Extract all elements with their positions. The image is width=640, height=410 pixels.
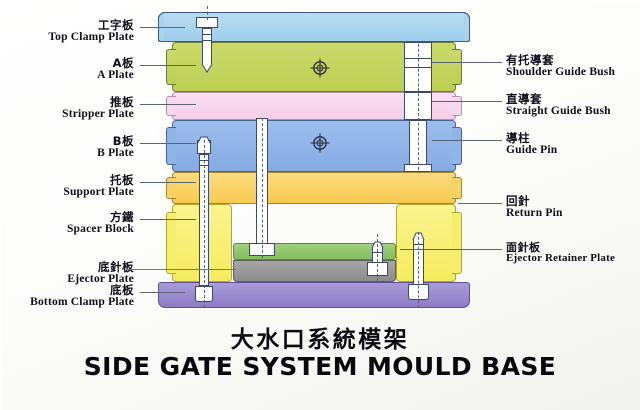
label-b-plate: B板 B Plate — [97, 136, 134, 159]
plate-stripper-chamfer-left — [166, 96, 176, 116]
leader-a-plate — [140, 65, 196, 66]
thread-mark-6 — [202, 34, 212, 35]
centreline-guide-pin — [418, 44, 419, 170]
label-b-plate-en: B Plate — [97, 148, 134, 160]
centreline-return-pin-right — [377, 234, 378, 282]
title-chinese: 大水口系統模架 — [0, 320, 640, 354]
leader-guide-pin — [432, 140, 502, 141]
label-a-plate-en: A Plate — [97, 70, 134, 82]
spacer-block-left-chamfer — [166, 212, 176, 274]
label-straight-guide-bush-en: Straight Guide Bush — [506, 106, 611, 118]
label-guide-pin-cn: 導柱 — [506, 133, 557, 145]
leader-shoulder-guide-bush — [432, 62, 502, 63]
label-straight-guide-bush-cn: 直導套 — [506, 94, 611, 106]
label-b-plate-cn: B板 — [97, 136, 134, 148]
label-spacer-block-cn: 方鐵 — [67, 212, 134, 224]
thread-mark-2 — [199, 165, 209, 166]
label-bottom-clamp-plate: 底板 Bottom Clamp Plate — [30, 285, 134, 308]
leader-bottom-clamp-plate — [140, 292, 185, 293]
label-stripper-plate-cn: 推板 — [62, 97, 134, 109]
label-stripper-plate-en: Stripper Plate — [62, 109, 134, 121]
plate-a-chamfer-right — [452, 49, 462, 85]
label-a-plate-cn: A板 — [97, 58, 134, 70]
plate-support-chamfer-left — [166, 177, 176, 199]
plate-stripper-chamfer-right — [452, 96, 462, 116]
datum-target-b-plate — [310, 133, 330, 153]
thread-mark-1 — [199, 160, 209, 161]
return-pin-right-taper — [370, 241, 386, 249]
label-spacer-block: 方鐵 Spacer Block — [67, 212, 134, 235]
label-shoulder-guide-bush: 有托導套 Shoulder Guide Bush — [506, 55, 615, 78]
label-a-plate: A板 A Plate — [97, 58, 134, 81]
label-bottom-clamp-plate-en: Bottom Clamp Plate — [30, 297, 134, 309]
label-top-clamp-plate-en: Top Clamp Plate — [48, 32, 134, 44]
thread-mark-5 — [372, 252, 383, 253]
leader-ejector-plate — [126, 269, 236, 270]
label-stripper-plate: 推板 Stripper Plate — [62, 97, 134, 120]
screw-point-outline-top-left — [200, 62, 214, 74]
spacer-block-right — [396, 204, 456, 282]
label-ejector-plate-cn: 底針板 — [67, 262, 134, 274]
leader-top-clamp-plate — [140, 27, 185, 28]
centreline-ejector-sleeve — [262, 118, 263, 258]
plate-a-chamfer-left — [166, 49, 176, 85]
label-return-pin-en: Return Pin — [506, 208, 563, 220]
thread-mark-3 — [413, 244, 424, 245]
thread-mark-7 — [202, 40, 212, 41]
label-ejector-retainer-plate: 面針板 Ejector Retainer Plate — [506, 242, 615, 264]
plate-support-chamfer-right — [452, 177, 462, 199]
spacer-block-right-chamfer — [452, 212, 462, 274]
label-guide-pin: 導柱 Guide Pin — [506, 133, 557, 156]
leader-spacer-block — [140, 219, 196, 220]
label-spacer-block-en: Spacer Block — [67, 224, 134, 236]
label-support-plate: 托板 Support Plate — [63, 175, 134, 198]
plate-support — [172, 172, 456, 204]
label-shoulder-guide-bush-en: Shoulder Guide Bush — [506, 67, 615, 79]
datum-target-a-plate — [310, 58, 330, 78]
label-shoulder-guide-bush-cn: 有托導套 — [506, 55, 615, 67]
title-english: SIDE GATE SYSTEM MOULD BASE — [0, 352, 640, 381]
label-bottom-clamp-plate-cn: 底板 — [30, 285, 134, 297]
label-return-pin-cn: 回針 — [506, 196, 563, 208]
leader-stripper-plate — [140, 104, 196, 105]
leader-support-plate — [140, 182, 196, 183]
label-support-plate-cn: 托板 — [63, 175, 134, 187]
label-ejector-plate: 底針板 Ejector Plate — [67, 262, 134, 285]
centreline-screw-top-left — [207, 6, 208, 20]
screw-bottom-right-taper — [411, 232, 427, 241]
label-straight-guide-bush: 直導套 Straight Guide Bush — [506, 94, 611, 117]
leader-b-plate — [140, 143, 196, 144]
label-guide-pin-en: Guide Pin — [506, 145, 557, 157]
label-support-plate-en: Support Plate — [63, 187, 134, 199]
label-ejector-retainer-plate-en: Ejector Retainer Plate — [506, 253, 615, 264]
label-top-clamp-plate-cn: 工字板 — [48, 20, 134, 32]
label-top-clamp-plate: 工字板 Top Clamp Plate — [48, 20, 134, 43]
plate-b-chamfer-right — [452, 127, 462, 165]
leader-return-pin — [458, 203, 502, 204]
leader-straight-guide-bush — [432, 101, 502, 102]
diagram-canvas: 工字板 Top Clamp Plate A板 A Plate 推板 Stripp… — [0, 0, 640, 410]
leader-ejector-retainer-plate — [400, 249, 502, 250]
label-return-pin: 回針 Return Pin — [506, 196, 563, 219]
plate-b-chamfer-left — [166, 127, 176, 165]
